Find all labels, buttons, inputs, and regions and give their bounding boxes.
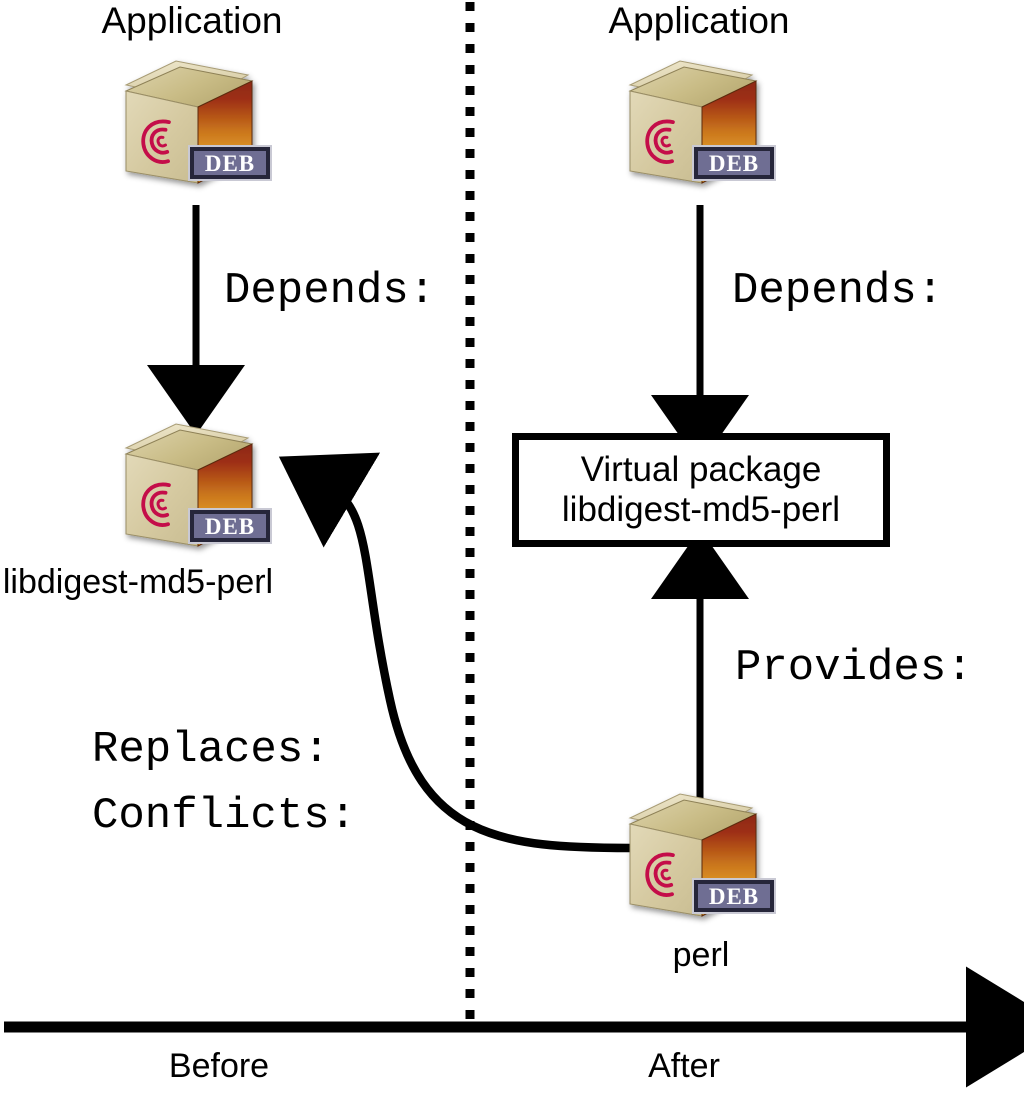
before-depends-label: Depends: — [224, 268, 435, 314]
deb-badge: DEB — [694, 880, 774, 912]
replaces-label: Replaces: — [92, 727, 330, 773]
timeline-after-label: After — [648, 1049, 720, 1085]
virtual-package-line-2: libdigest-md5-perl — [562, 490, 840, 530]
deb-badge-text: DEB — [709, 885, 759, 908]
diagram-vector-layer — [0, 0, 1024, 1094]
provides-label: Provides: — [735, 645, 973, 691]
deb-badge: DEB — [190, 510, 270, 542]
virtual-package-box: Virtual package libdigest-md5-perl — [512, 433, 890, 547]
deb-badge-text: DEB — [709, 152, 759, 175]
perl-package-label: perl — [673, 938, 730, 974]
before-application-label: Application — [101, 2, 282, 41]
virtual-package-line-1: Virtual package — [581, 450, 822, 490]
timeline-before-label: Before — [169, 1049, 269, 1085]
deb-badge: DEB — [190, 147, 270, 179]
before-package-label: libdigest-md5-perl — [3, 565, 273, 601]
conflicts-label: Conflicts: — [92, 793, 356, 839]
after-application-label: Application — [608, 2, 789, 41]
deb-badge: DEB — [694, 147, 774, 179]
after-depends-label: Depends: — [732, 268, 943, 314]
diagram-canvas: DEB DEB DEB DEB Application Depends: lib… — [0, 0, 1024, 1094]
deb-badge-text: DEB — [205, 152, 255, 175]
deb-badge-text: DEB — [205, 515, 255, 538]
